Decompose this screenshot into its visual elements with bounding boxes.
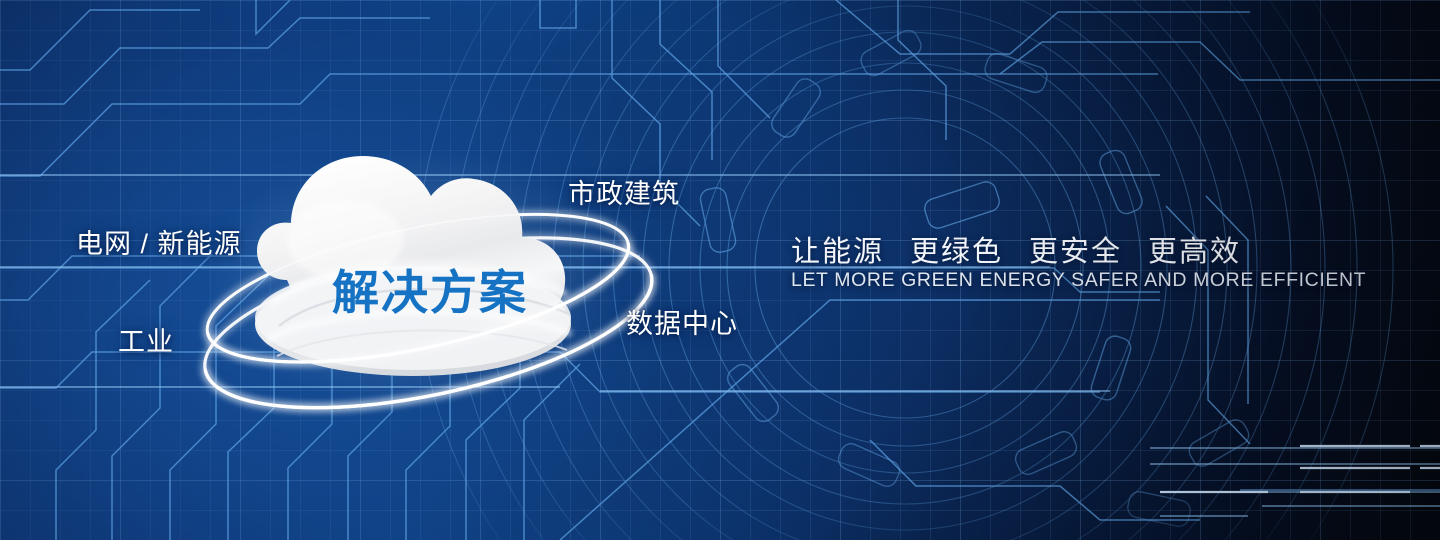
label-grid-new-energy: 电网 / 新能源 (76, 222, 242, 261)
slogan-part-4: 更高效 (1148, 228, 1241, 270)
label-industry: 工业 (118, 320, 174, 359)
label-data-center: 数据中心 (626, 302, 738, 341)
slogan-part-1: 让能源 (791, 228, 884, 270)
solution-banner: 电网 / 新能源 工业 市政建筑 数据中心 解决方案 让能源更绿色更安全更高效 … (0, 0, 1440, 540)
slogan-english: LET MORE GREEN ENERGY SAFER AND MORE EFF… (791, 269, 1366, 292)
slogan-part-3: 更安全 (1029, 228, 1122, 270)
slogan-part-2: 更绿色 (910, 228, 1003, 270)
slogan-chinese: 让能源更绿色更安全更高效 (791, 228, 1241, 270)
label-municipal-building: 市政建筑 (568, 172, 680, 211)
page-title: 解决方案 (332, 254, 528, 323)
